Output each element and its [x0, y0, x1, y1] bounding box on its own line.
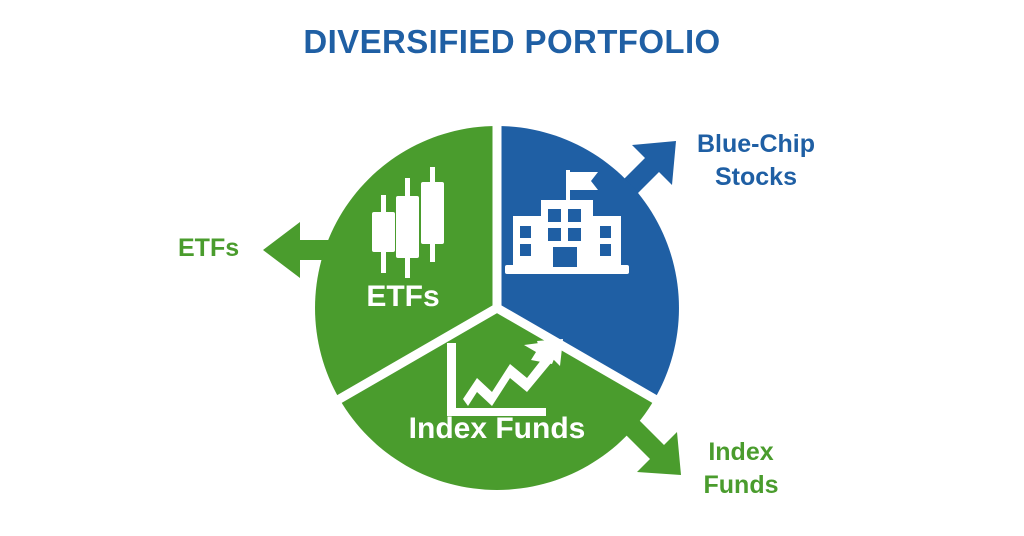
callout-blue-chip-line1: Blue-Chip [686, 128, 826, 161]
callout-etfs-line1: ETFs [178, 232, 258, 265]
callout-label-blue-chip-stocks: Blue-Chip Stocks [686, 128, 826, 194]
callout-label-index-funds: Index Funds [686, 436, 796, 502]
infographic-canvas: DIVERSIFIED PORTFOLIO [0, 0, 1024, 536]
pie-slice-label-index-funds: Index Funds [409, 412, 586, 445]
callout-label-etfs: ETFs [178, 232, 258, 265]
pie-chart-figure: ETFs [0, 0, 1024, 536]
callout-index-line2: Funds [686, 469, 796, 502]
pie-slice-label-etfs: ETFs [366, 280, 439, 313]
callout-blue-chip-line2: Stocks [686, 161, 826, 194]
callout-index-line1: Index [686, 436, 796, 469]
